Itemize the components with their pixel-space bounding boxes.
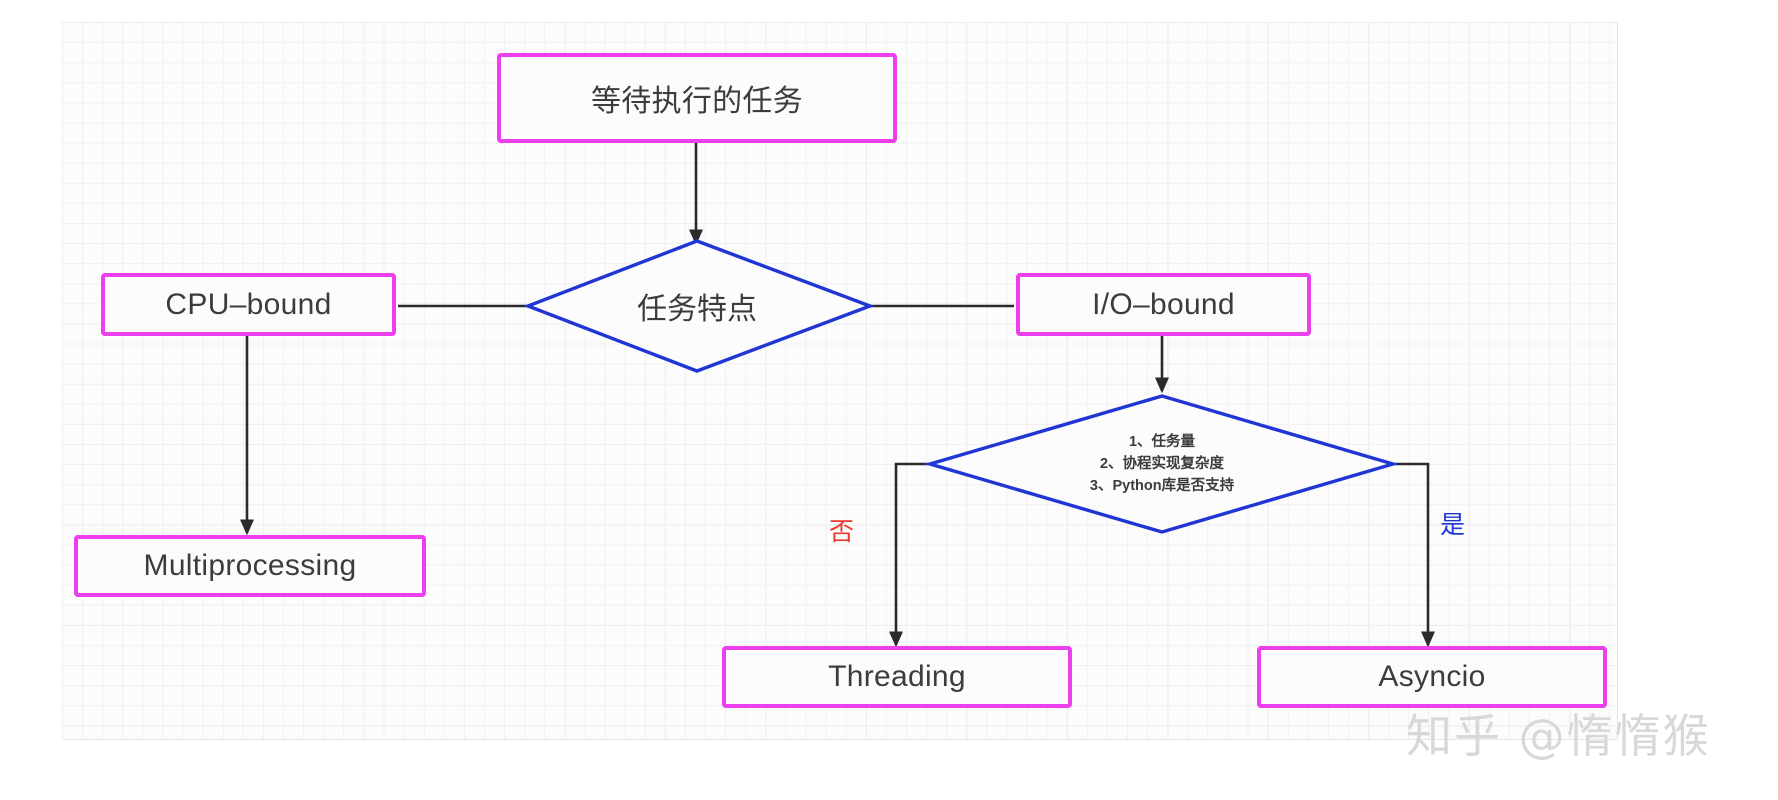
edge-label-yes: 是 xyxy=(1440,505,1465,541)
node-cpu-bound[interactable]: CPU–bound xyxy=(101,273,396,336)
edge-label-no: 否 xyxy=(829,512,854,548)
edge-criteria-yes-to-asyncio xyxy=(1393,464,1428,645)
node-asyncio[interactable]: Asyncio xyxy=(1257,646,1607,708)
node-io-bound[interactable]: I/O–bound xyxy=(1016,273,1311,336)
node-cpu-bound-label: CPU–bound xyxy=(165,288,331,322)
node-threading-label: Threading xyxy=(828,660,966,694)
edge-criteria-no-to-threading xyxy=(896,464,930,645)
node-start[interactable]: 等待执行的任务 xyxy=(497,53,897,143)
decision-criteria-shape[interactable] xyxy=(930,396,1393,532)
node-io-bound-label: I/O–bound xyxy=(1092,288,1235,322)
node-multiprocessing[interactable]: Multiprocessing xyxy=(74,535,426,597)
node-start-label: 等待执行的任务 xyxy=(591,76,803,120)
watermark: 知乎 @惰惰猴 xyxy=(1406,700,1711,766)
node-multiprocessing-label: Multiprocessing xyxy=(144,549,357,583)
node-threading[interactable]: Threading xyxy=(722,646,1072,708)
node-asyncio-label: Asyncio xyxy=(1378,660,1485,694)
decision-task-type-shape[interactable] xyxy=(528,241,870,371)
diagram-canvas: 等待执行的任务 CPU–bound I/O–bound Multiprocess… xyxy=(0,0,1778,800)
